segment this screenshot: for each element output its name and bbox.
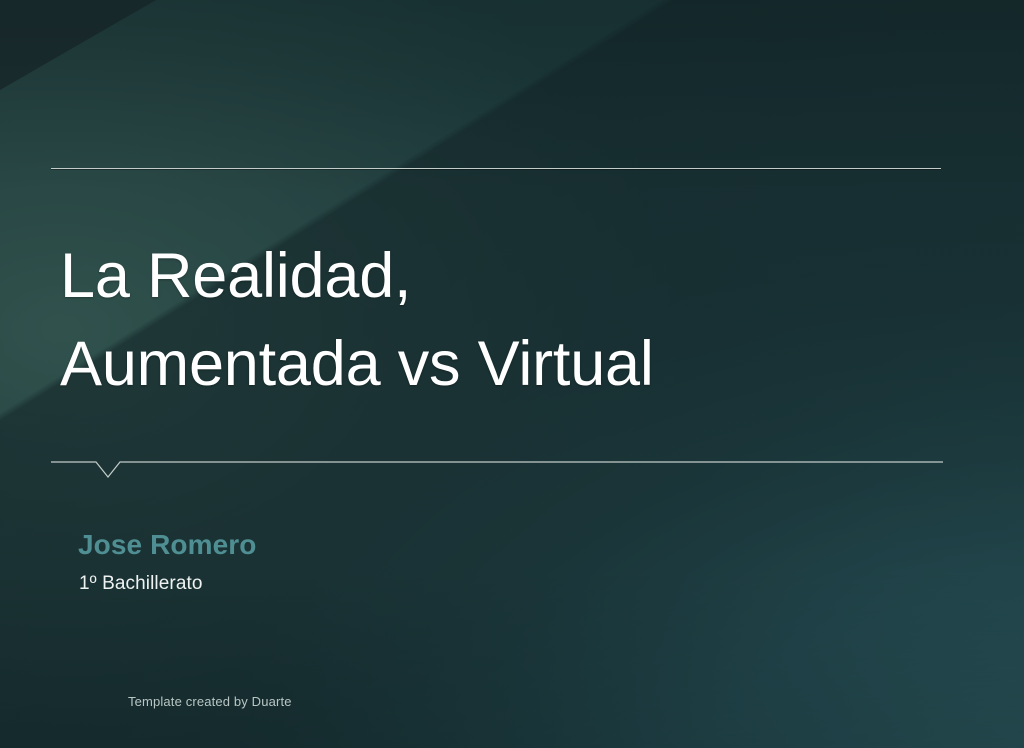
- divider-rule-notched: [51, 452, 943, 482]
- divider-rule-top: [51, 168, 941, 169]
- template-credit: Template created by Duarte: [128, 694, 292, 709]
- title-line-2: Aumentada vs Virtual: [60, 320, 960, 408]
- slide-title: La Realidad, Aumentada vs Virtual: [60, 232, 960, 408]
- notched-line-icon: [51, 452, 943, 482]
- slide-content: La Realidad, Aumentada vs Virtual Jose R…: [0, 0, 1024, 748]
- title-slide: La Realidad, Aumentada vs Virtual Jose R…: [0, 0, 1024, 748]
- author-name: Jose Romero: [78, 529, 257, 561]
- author-subtitle: 1º Bachillerato: [79, 573, 203, 595]
- title-line-1: La Realidad,: [60, 232, 960, 320]
